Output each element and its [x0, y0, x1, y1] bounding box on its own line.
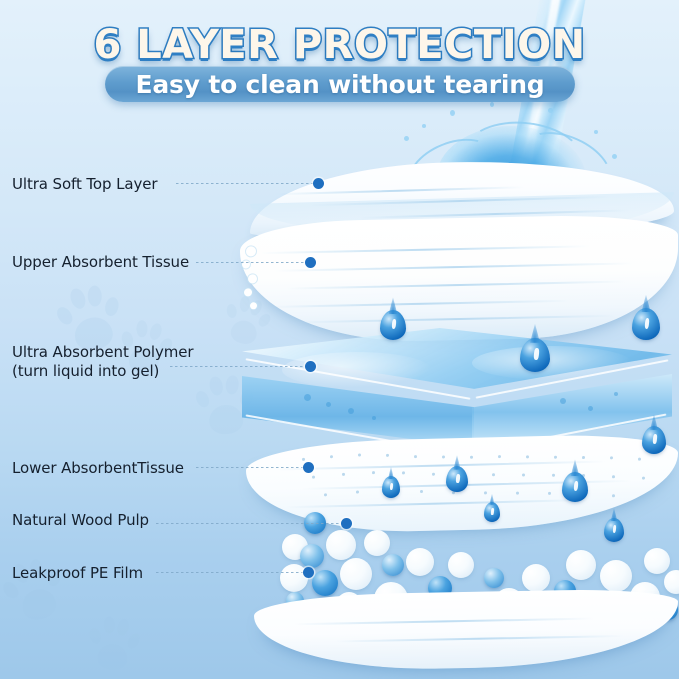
water-droplet-icon	[520, 338, 550, 372]
page-title: 6 LAYER PROTECTION	[0, 22, 679, 68]
callout-label: Upper Absorbent Tissue	[12, 253, 189, 272]
water-droplet-icon	[642, 426, 666, 454]
layer-upper-absorbent-tissue	[240, 213, 678, 344]
callout-label: Ultra Soft Top Layer	[12, 175, 157, 194]
leader-line	[196, 262, 306, 263]
callout-label: Leakproof PE Film	[12, 564, 143, 583]
water-droplet-icon	[484, 502, 500, 522]
water-droplet-icon	[562, 472, 588, 502]
callout-label: Natural Wood Pulp	[12, 511, 149, 530]
water-droplet-icon	[380, 310, 406, 340]
leader-line	[170, 366, 306, 367]
callout-marker-dot	[341, 518, 352, 529]
paw-print-icon	[0, 548, 73, 629]
leader-line	[156, 572, 304, 573]
subtitle-badge: Easy to clean without tearing	[105, 66, 575, 102]
layer-stack	[232, 120, 679, 640]
callout-marker-dot	[305, 361, 316, 372]
subtitle-text: Easy to clean without tearing	[136, 70, 545, 99]
paw-print-icon	[85, 611, 143, 674]
callout-marker-dot	[313, 178, 324, 189]
callout-marker-dot	[305, 257, 316, 268]
water-droplet-icon	[382, 476, 400, 498]
product-infographic: 6 LAYER PROTECTION Easy to clean without…	[0, 0, 679, 679]
water-droplet-icon	[604, 518, 624, 542]
water-droplet-icon	[446, 466, 468, 492]
leader-line	[156, 523, 342, 524]
callout-marker-dot	[303, 567, 314, 578]
callout-label: Ultra Absorbent Polymer (turn liquid int…	[12, 343, 193, 381]
leader-line	[196, 467, 304, 468]
leader-line	[176, 183, 314, 184]
callout-marker-dot	[303, 462, 314, 473]
layer-leakproof-pe-film	[254, 588, 678, 672]
water-droplet-icon	[632, 308, 660, 340]
callout-label: Lower AbsorbentTissue	[12, 459, 184, 478]
